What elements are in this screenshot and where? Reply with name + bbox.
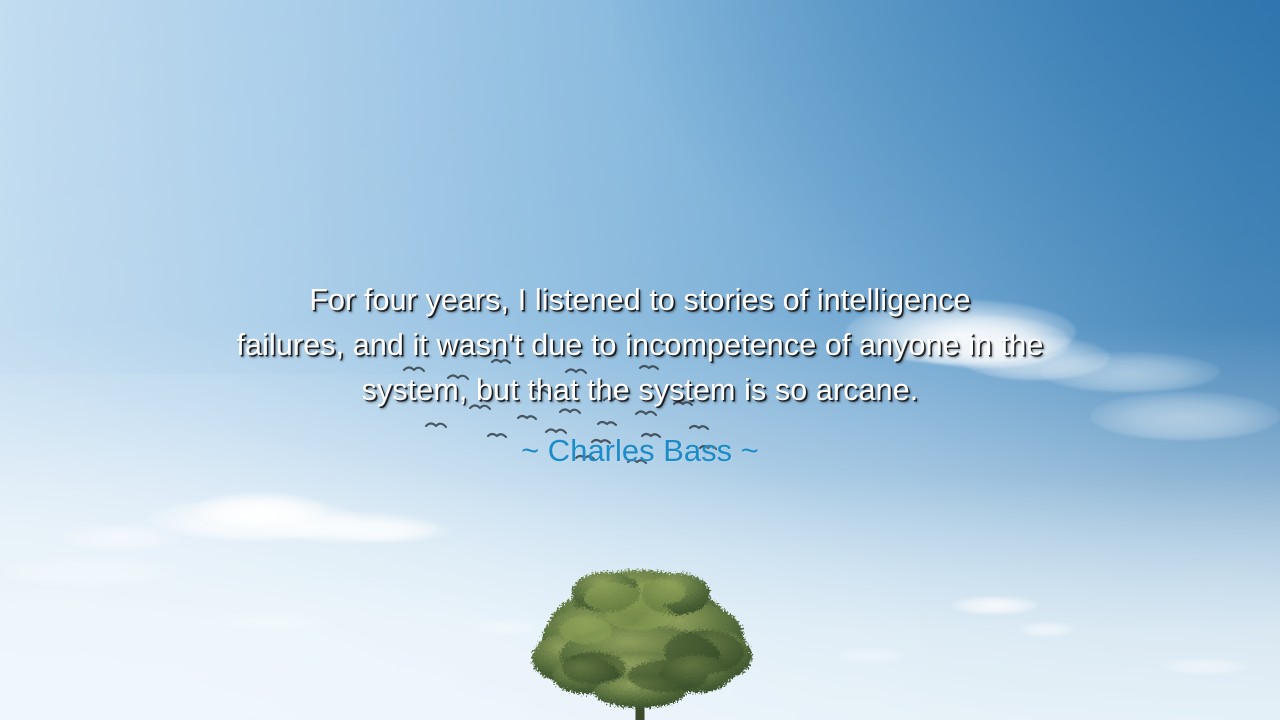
quote-image: For four years, I listened to stories of… [0,0,1280,720]
quote-line-3: system, but that the system is so arcane… [40,368,1240,413]
oak-tree [490,552,790,720]
quote-line-1: For four years, I listened to stories of… [40,278,1240,323]
quote-attribution: ~ Charles Bass ~ [40,432,1240,470]
quote-block: For four years, I listened to stories of… [0,278,1280,470]
quote-line-2: failures, and it wasn't due to incompete… [40,323,1240,368]
